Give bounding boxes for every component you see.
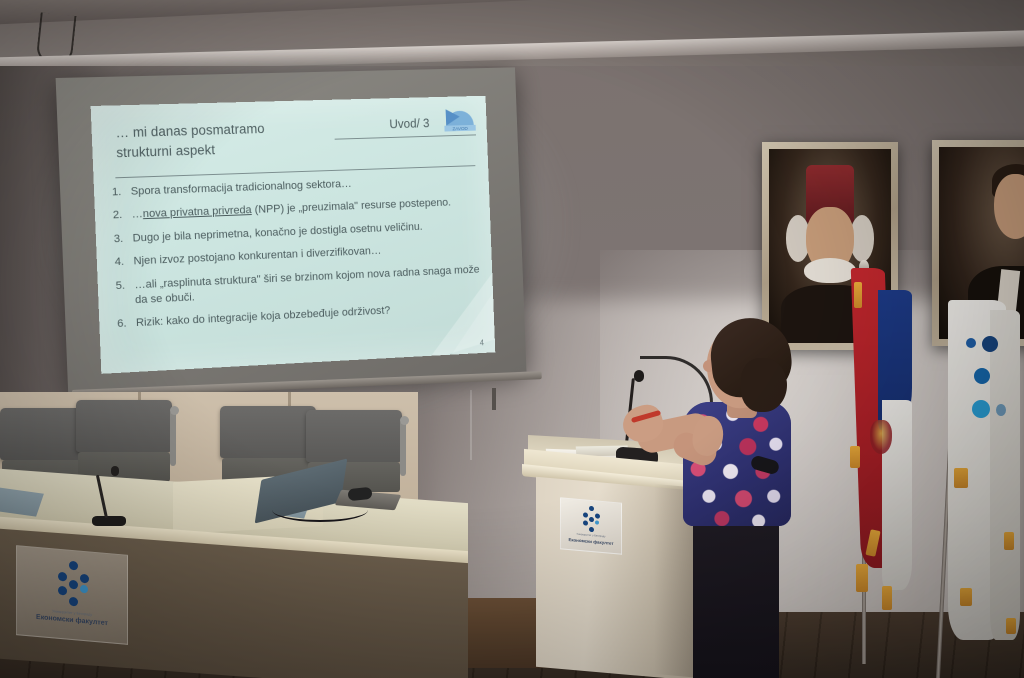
flag-logo-dot bbox=[966, 338, 976, 348]
desk-microphone bbox=[92, 468, 126, 526]
flag-fringe bbox=[882, 586, 892, 610]
slide-bullet-number: 3. bbox=[114, 232, 127, 247]
flag-logo-dot bbox=[996, 404, 1006, 416]
serbian-flag bbox=[848, 268, 914, 598]
portrait-face bbox=[994, 174, 1024, 239]
conference-desk-group: Универзитет у Београду Економски факулте… bbox=[0, 392, 418, 678]
slide-bullet-number: 1. bbox=[112, 185, 125, 200]
svg-text:ZAVOD: ZAVOD bbox=[452, 126, 468, 132]
presenter-hair-back bbox=[741, 358, 787, 412]
presenter-person bbox=[615, 318, 845, 678]
slide-bullet-number: 2. bbox=[113, 208, 126, 223]
flag-logo-dot bbox=[982, 336, 998, 352]
flag-cloth-fold bbox=[990, 310, 1020, 640]
desk-faculty-plaque: Универзитет у Београду Економски факулте… bbox=[16, 545, 128, 645]
projection-screen: … mi danas posmatramo strukturni aspekt … bbox=[62, 78, 547, 398]
slide-corner-decoration bbox=[386, 256, 495, 367]
flag-fringe bbox=[1004, 532, 1014, 550]
slide-bullet-text: Spora transformacija tradicionalnog sekt… bbox=[131, 173, 480, 200]
slide-bullet-number: 6. bbox=[117, 316, 130, 331]
slide-title: … mi danas posmatramo strukturni aspekt bbox=[115, 117, 358, 163]
conference-room-photo: … mi danas posmatramo strukturni aspekt … bbox=[0, 0, 1024, 678]
presentation-slide: … mi danas posmatramo strukturni aspekt … bbox=[91, 96, 496, 374]
slide-bullet-number: 4. bbox=[115, 255, 128, 270]
slide-bullet-number: 5. bbox=[115, 278, 129, 308]
screen-leg bbox=[492, 388, 496, 410]
flag-fringe bbox=[854, 282, 862, 308]
serbian-coat-of-arms bbox=[870, 420, 892, 454]
faculty-diamond-dots-logo bbox=[580, 505, 604, 533]
flag-fringe bbox=[850, 446, 860, 468]
slide-bullet-item: 1.Spora transformacija tradicionalnog se… bbox=[112, 173, 480, 201]
university-faculty-flag bbox=[944, 300, 1024, 678]
faculty-diamond-dots-logo bbox=[49, 559, 97, 609]
slide-section-label: Uvod/ 3 bbox=[389, 117, 430, 132]
lectern-faculty-plaque: Универзитет у Београду Економски факулте… bbox=[560, 497, 622, 554]
flag-logo-dot bbox=[974, 368, 990, 384]
flag-fringe bbox=[960, 588, 972, 606]
slide-page-number: 4 bbox=[480, 339, 484, 348]
flag-logo-dot bbox=[972, 400, 990, 418]
flag-fringe bbox=[954, 468, 968, 488]
flag-fringe bbox=[856, 564, 868, 592]
zavod-dome-logo: ZAVOD bbox=[438, 100, 482, 134]
flag-fringe bbox=[1006, 618, 1016, 634]
presenter-skirt bbox=[693, 508, 779, 678]
